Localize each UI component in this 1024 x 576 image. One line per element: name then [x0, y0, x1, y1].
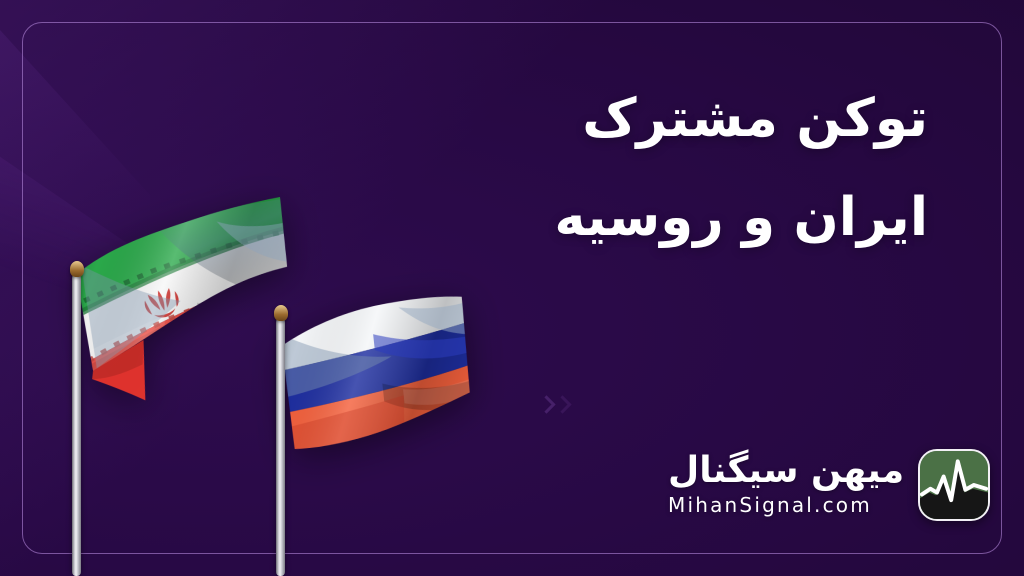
- flagpole-iran: [72, 274, 81, 576]
- brand-name-fa: میهن سیگنال: [668, 453, 904, 489]
- brand-domain: MihanSignal.com: [668, 495, 872, 515]
- brand-logo[interactable]: میهن سیگنال MihanSignal.com: [668, 437, 990, 533]
- signal-pulse-icon: [918, 449, 990, 521]
- flag-russia: [274, 291, 482, 490]
- flagpole-russia: [276, 318, 285, 576]
- banner-canvas: توکن مشترک ایران و روسیه میهن سیگنال Mih…: [0, 0, 1024, 576]
- brand-text: میهن سیگنال MihanSignal.com: [668, 453, 904, 517]
- flagpole-finial-icon: [70, 261, 84, 277]
- headline-line-2: ایران و روسیه: [408, 191, 928, 244]
- headline-line-1: توکن مشترک: [582, 88, 928, 149]
- flagpole-finial-icon: [274, 305, 288, 321]
- headline: توکن مشترک ایران و روسیه: [408, 92, 928, 244]
- flags-illustration: [0, 0, 520, 576]
